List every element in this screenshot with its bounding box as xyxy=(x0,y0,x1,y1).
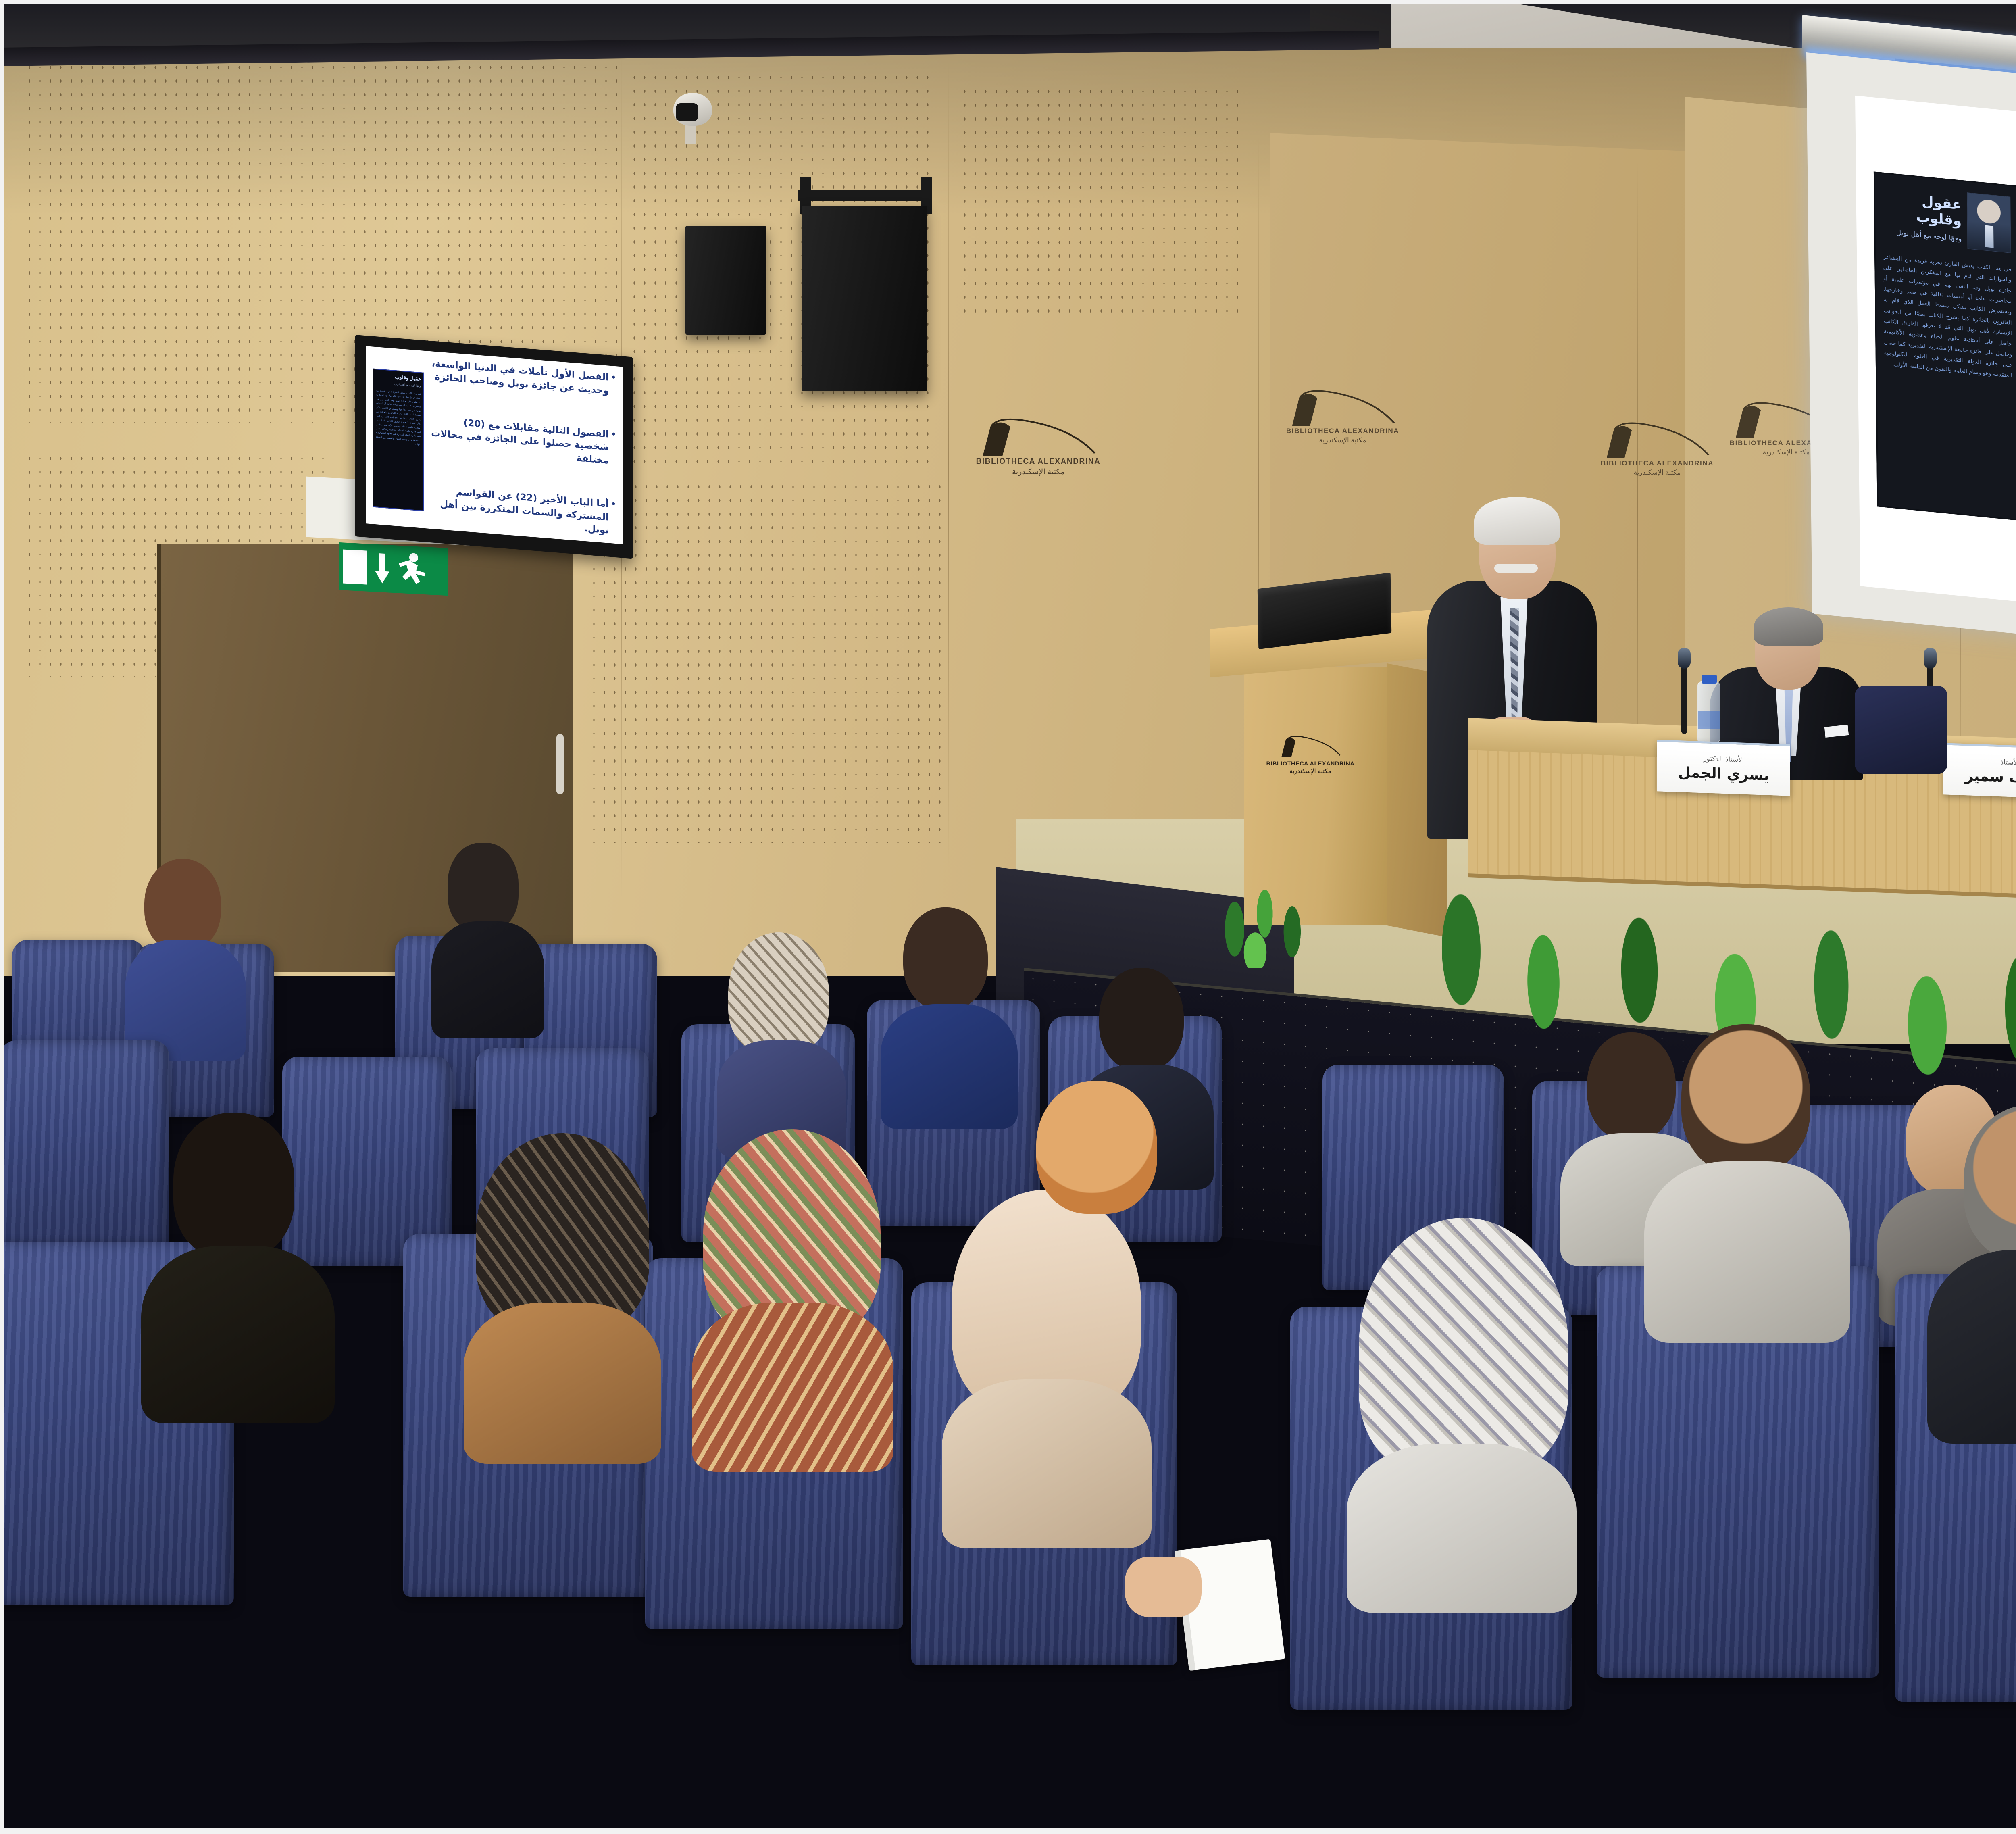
perforation-block xyxy=(960,85,1242,319)
podium-logo-latin: BIBLIOTHECA ALEXANDRINA xyxy=(1262,760,1359,767)
panel-chair xyxy=(1855,686,1947,774)
nameplate-name: يسري الجمل xyxy=(1678,764,1769,784)
wall-logo-arabic: مكتبة الإسكندرية xyxy=(972,467,1105,477)
nameplate: الأستاذ شريف سمير xyxy=(1943,743,2016,799)
speaker-bracket xyxy=(798,190,931,201)
monitor-screen: الفصل الأول تأملات في الدنيا الواسعة، وح… xyxy=(366,346,623,544)
monitor-slide-bullets: الفصل الأول تأملات في الدنيا الواسعة، وح… xyxy=(427,356,617,538)
door-handle[interactable] xyxy=(556,734,564,794)
monitor-bullet: أما الباب الأخير (22) عن القواسم المشترك… xyxy=(427,484,617,538)
running-man-icon xyxy=(398,552,427,589)
audience-torso xyxy=(464,1303,661,1464)
audience-torso xyxy=(1927,1250,2016,1444)
speaker-hair xyxy=(1474,497,1560,545)
wall-panel-seam xyxy=(948,60,949,867)
audience-head xyxy=(1964,1105,2016,1262)
nameplate-name: شريف سمير xyxy=(1965,767,2016,787)
wall-logo-bibliotheca: BIBLIOTHECA ALEXANDRINA مكتبة الإسكندرية xyxy=(1597,419,1718,488)
wall-logo-bibliotheca: BIBLIOTHECA ALEXANDRINA مكتبة الإسكندرية xyxy=(1282,387,1403,456)
audience-member xyxy=(423,843,552,1032)
audience-member xyxy=(1637,1024,1855,1347)
audience-member xyxy=(685,1133,895,1464)
monitor-book-blurb: في هذا الكتاب يعيش القارئ تجربة فريدة من… xyxy=(376,389,421,447)
book-title: عقول وقلوب xyxy=(1882,190,1962,229)
audience-torso xyxy=(692,1303,893,1472)
wall-logo-latin: BIBLIOTHECA ALEXANDRINA xyxy=(1597,459,1718,467)
confidence-monitor: الفصل الأول تأملات في الدنيا الواسعة، وح… xyxy=(355,335,633,559)
photo-edge-bottom xyxy=(0,1828,2016,1834)
monitor-book-title: عقول وقلوب xyxy=(376,373,421,382)
wall-logo-latin: BIBLIOTHECA ALEXANDRINA xyxy=(1282,427,1403,435)
audience-torso xyxy=(942,1379,1152,1548)
slide-book-cover: عقول وقلوب وجهًا لوجه مع أهل نوبل في هذا… xyxy=(1874,171,2016,521)
audience-head xyxy=(1681,1024,1810,1173)
wall-loudspeaker-icon xyxy=(802,206,927,391)
photo-edge-left xyxy=(0,0,4,1834)
panelist-seated-left xyxy=(1702,589,1871,758)
audience-torso xyxy=(1347,1444,1577,1613)
podium-logo-bibliotheca: BIBLIOTHECA ALEXANDRINA مكتبة الإسكندرية xyxy=(1262,734,1359,775)
book-author-portrait xyxy=(1967,192,2011,253)
stage-plant xyxy=(1193,839,1331,968)
monitor-bullet: الفصول التالية مقابلات مع (20) شخصية حصل… xyxy=(427,413,617,468)
lecture-hall-photo: BIBLIOTHECA ALEXANDRINA مكتبة الإسكندرية… xyxy=(0,0,2016,1834)
speaker-mustache xyxy=(1494,564,1538,573)
emergency-exit-sign xyxy=(339,542,448,596)
dome-security-camera-icon xyxy=(673,93,712,126)
stage-light-fixture-icon xyxy=(685,226,766,335)
audience-head xyxy=(448,843,519,932)
presentation-slide: الفصل الأول تأملات في الدنيا الواسعة، وح… xyxy=(1855,96,2016,663)
wall-logo-bibliotheca: BIBLIOTHECA ALEXANDRINA مكتبة الإسكندرية xyxy=(972,415,1105,488)
audience-head xyxy=(1036,1081,1157,1214)
table-microphone xyxy=(1681,661,1687,734)
nameplate-title: الأستاذ xyxy=(2001,758,2016,767)
book-blurb: في هذا الكتاب يعيش القارئ تجربة فريدة من… xyxy=(1883,252,2012,381)
audience-member xyxy=(121,859,258,1052)
audience-torso xyxy=(1644,1161,1850,1343)
audience-member xyxy=(133,1113,343,1428)
audience-member xyxy=(1919,1105,2016,1452)
audience-torso xyxy=(141,1246,335,1423)
audience-head xyxy=(173,1113,294,1258)
audience-member xyxy=(1339,1218,1581,1605)
exit-sign-door-bar xyxy=(343,549,367,584)
panelist-hair xyxy=(1754,607,1823,646)
audience-torso xyxy=(881,1004,1018,1129)
wall-logo-latin: BIBLIOTHECA ALEXANDRINA xyxy=(972,457,1105,466)
nameplate: الأستاذ الدكتور يسري الجمل xyxy=(1657,740,1790,796)
photo-edge-top xyxy=(0,0,2016,4)
audience-head xyxy=(1099,968,1184,1071)
audience-torso xyxy=(431,921,544,1038)
audience-headscarf xyxy=(728,932,829,1053)
down-arrow-icon xyxy=(371,550,394,586)
book-cover-header: عقول وقلوب وجهًا لوجه مع أهل نوبل xyxy=(1882,184,2011,253)
audience-hand xyxy=(1125,1557,1202,1617)
audience-headscarf xyxy=(1359,1218,1568,1476)
monitor-book-subtitle: وجهًا لوجه مع أهل نوبل xyxy=(376,381,421,388)
wall-logo-arabic: مكتبة الإسكندرية xyxy=(1597,469,1718,477)
perforation-block xyxy=(589,480,943,843)
podium-logo-arabic: مكتبة الإسكندرية xyxy=(1262,767,1359,775)
audience-member xyxy=(710,940,855,1149)
audience-head xyxy=(144,859,221,952)
monitor-book-cover: عقول وقلوب وجهًا لوجه مع أهل نوبل في هذا… xyxy=(373,369,424,511)
audience-member xyxy=(460,1141,661,1456)
wall-logo-arabic: مكتبة الإسكندرية xyxy=(1282,436,1403,444)
audience-head xyxy=(903,907,988,1010)
audience-member xyxy=(1000,1081,1193,1339)
water-bottle[interactable] xyxy=(1697,681,1720,742)
book-title-group: عقول وقلوب وجهًا لوجه مع أهل نوبل xyxy=(1882,190,1962,243)
nameplate-title: الأستاذ الدكتور xyxy=(1704,754,1744,764)
book-subtitle: وجهًا لوجه مع أهل نوبل xyxy=(1883,227,1962,243)
